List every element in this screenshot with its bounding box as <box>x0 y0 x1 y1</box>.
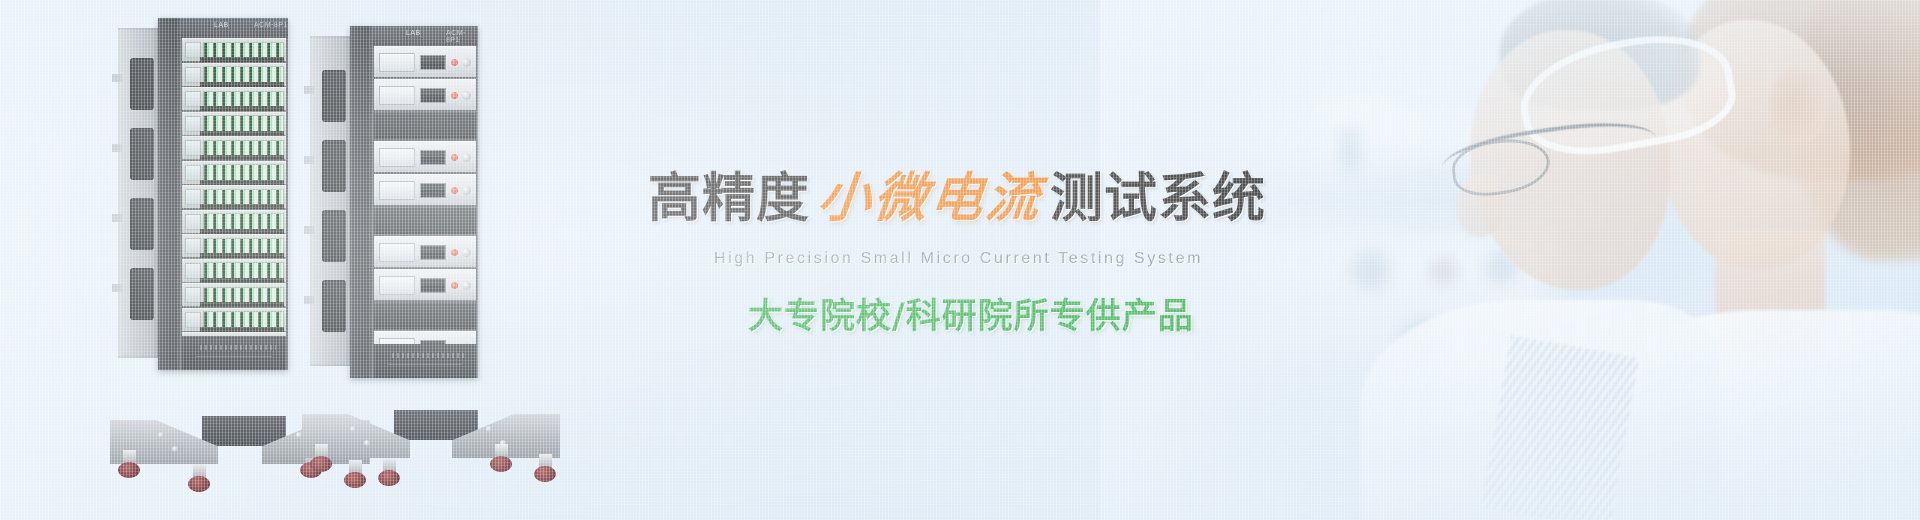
promo-banner: LAB ACM-8P1 <box>0 0 1920 520</box>
instrument-module <box>374 236 476 267</box>
module-channel-strip <box>203 189 284 206</box>
rack-bracket <box>112 284 122 292</box>
module-display <box>185 263 201 279</box>
module-knob <box>462 153 471 162</box>
caster-roller <box>490 456 512 472</box>
base-bolt <box>486 426 492 432</box>
blank-panel <box>374 207 476 234</box>
instrument-module <box>182 210 286 233</box>
instrument-module <box>374 79 476 110</box>
module-connector-row <box>200 131 284 136</box>
rack-bracket <box>304 86 314 94</box>
module-display <box>379 148 415 167</box>
module-connector-row <box>200 302 284 307</box>
module-display <box>185 214 201 230</box>
rack-vent-slot <box>130 198 154 250</box>
module-display <box>185 312 201 328</box>
module-display <box>379 86 415 105</box>
rack-bracket <box>112 214 122 222</box>
status-led <box>451 282 458 289</box>
module-channel-strip <box>203 311 284 328</box>
module-knob <box>462 281 471 290</box>
rack-side-column <box>118 28 162 358</box>
module-panel-bars <box>420 55 446 70</box>
module-knob <box>462 91 471 100</box>
instrument-module <box>182 259 286 282</box>
instrument-module <box>374 174 476 205</box>
module-stack <box>374 46 476 344</box>
module-display <box>185 165 201 181</box>
equipment-rack-green: LAB ACM-8P1 <box>118 18 288 438</box>
module-connector-row <box>200 155 284 160</box>
base-bolt <box>172 446 178 452</box>
module-channel-strip <box>203 238 284 255</box>
rack-base-2 <box>302 414 560 474</box>
instrument-module <box>182 87 286 110</box>
banner-headline: 高精度小微电流测试系统 <box>648 168 1266 225</box>
banner-tagline-green: 大专院校/科研院所专供产品 <box>748 288 1194 339</box>
caster-roller <box>118 462 140 478</box>
module-channel-strip <box>203 213 284 230</box>
rack-vent-slot <box>130 58 154 110</box>
instrument-module <box>182 283 286 306</box>
module-channel-strip <box>203 140 284 157</box>
panel-line <box>388 364 462 365</box>
instrument-module <box>182 112 286 135</box>
module-knob <box>462 58 471 67</box>
instrument-module <box>374 331 476 344</box>
instrument-module <box>182 63 286 86</box>
caster-roller <box>534 466 556 482</box>
caster-wheel <box>186 464 212 494</box>
caster-wheel <box>116 450 142 480</box>
headline-part-testing-system: 测试系统 <box>1050 172 1266 225</box>
caster-wheel <box>376 458 402 488</box>
status-led <box>451 249 458 256</box>
rack-side-column <box>310 36 354 366</box>
equipment-rack-instruments: LAB ACM-8P1 <box>310 26 478 438</box>
rack-bracket <box>112 74 122 82</box>
instrument-module <box>182 185 286 208</box>
module-panel-bars <box>420 245 446 260</box>
module-channel-strip <box>203 91 284 108</box>
module-channel-strip <box>203 287 284 304</box>
rack-bracket <box>304 296 314 304</box>
instrument-module <box>374 46 476 77</box>
module-connector-row <box>200 253 284 258</box>
rack-vent-slot <box>322 280 346 332</box>
status-led <box>451 59 458 66</box>
module-connector-row <box>200 278 284 283</box>
panel-line <box>196 356 272 357</box>
rack-bracket <box>304 156 314 164</box>
module-display <box>185 42 201 58</box>
rack-bottom-panel <box>182 336 286 370</box>
rack-bottom-panel <box>374 344 476 378</box>
rack-bracket <box>304 226 314 234</box>
headline-part-precision: 高精度 <box>648 172 810 225</box>
terminal-strip <box>392 353 466 358</box>
module-panel-bars <box>420 150 446 165</box>
module-stack <box>182 38 286 336</box>
module-display <box>185 238 201 254</box>
module-display <box>379 181 415 200</box>
module-channel-strip <box>203 115 284 132</box>
instrument-module <box>374 141 476 172</box>
status-led <box>451 187 458 194</box>
caster-wheel <box>532 454 558 484</box>
caster-roller <box>344 472 366 488</box>
photo-vertical-fade <box>1100 0 1920 520</box>
module-display <box>379 53 415 72</box>
instrument-module <box>182 308 286 331</box>
rack-brand-label: LAB <box>406 30 421 37</box>
rack-vent-slot <box>322 70 346 122</box>
headline-part-micro-current: 小微电流 <box>807 172 1053 225</box>
base-spine <box>202 416 286 446</box>
module-channel-strip <box>203 262 284 279</box>
module-display <box>185 287 201 303</box>
rack-vent-slot <box>130 268 154 320</box>
module-knob <box>462 186 471 195</box>
rack-body: LAB ACM-8P1 <box>158 18 288 370</box>
module-display <box>185 91 201 107</box>
rack-brand-label: LAB <box>214 22 229 29</box>
status-led <box>451 92 458 99</box>
caster-roller <box>188 476 210 492</box>
instrument-module <box>182 136 286 159</box>
module-connector-row <box>200 229 284 234</box>
instrument-module <box>182 161 286 184</box>
module-panel-bars <box>420 88 446 103</box>
rack-model-label: ACM-8P1 <box>446 30 478 44</box>
caster-wheel <box>488 444 514 474</box>
module-display <box>185 189 201 205</box>
blank-panel <box>374 112 476 139</box>
module-display <box>379 243 415 262</box>
base-bolt <box>364 440 370 446</box>
base-bolt <box>158 432 164 438</box>
module-channel-strip <box>203 66 284 83</box>
terminal-strip <box>200 345 276 350</box>
module-connector-row <box>200 327 284 332</box>
banner-subtitle-english: High Precision Small Micro Current Testi… <box>714 250 1203 268</box>
blank-panel <box>374 302 476 329</box>
caster-wheel <box>308 444 334 474</box>
rack-model-label: ACM-8P1 <box>254 22 288 29</box>
module-connector-row <box>200 180 284 185</box>
module-display <box>185 116 201 132</box>
module-knob <box>462 248 471 257</box>
status-led <box>451 154 458 161</box>
module-display <box>185 140 201 156</box>
base-bolt <box>350 426 356 432</box>
caster-roller <box>378 470 400 486</box>
rack-body: LAB ACM-8P1 <box>350 26 478 378</box>
instrument-module <box>182 38 286 61</box>
rack-vent-slot <box>322 140 346 192</box>
rack-vent-slot <box>322 210 346 262</box>
module-display <box>185 67 201 83</box>
researchers-photo <box>1100 0 1920 520</box>
instrument-module <box>374 269 476 300</box>
rack-top-panel: LAB ACM-8P1 <box>372 26 478 46</box>
rack-vent-slot <box>130 128 154 180</box>
module-connector-row <box>200 57 284 62</box>
module-connector-row <box>200 106 284 111</box>
module-connector-row <box>200 204 284 209</box>
module-panel-bars <box>420 183 446 198</box>
module-connector-row <box>200 82 284 87</box>
module-channel-strip <box>203 164 284 181</box>
rack-bracket <box>112 144 122 152</box>
instrument-module <box>182 234 286 257</box>
module-display <box>379 276 415 295</box>
module-channel-strip <box>203 42 284 59</box>
module-panel-bars <box>420 278 446 293</box>
caster-roller <box>310 456 332 472</box>
rack-top-panel: LAB ACM-8P1 <box>180 18 288 38</box>
